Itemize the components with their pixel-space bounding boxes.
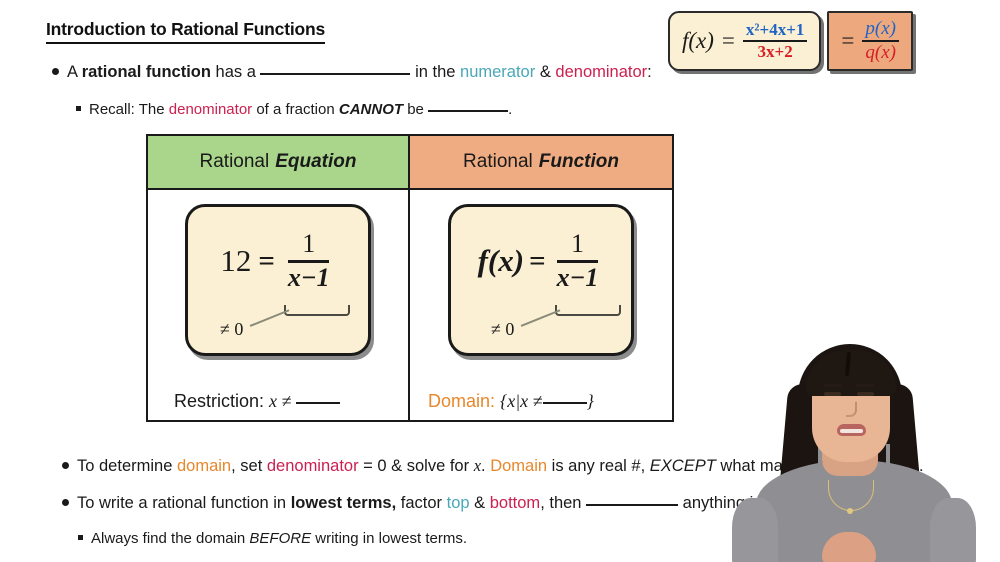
bullet-determine-domain: To determine domain, set denominator = 0… <box>62 456 924 477</box>
presenter-pendant <box>847 508 853 514</box>
table-body-row: 12 = 1 x−1 ≠ 0 Restriction: x ≠ <box>148 190 672 420</box>
restriction-caption: Restriction: x ≠ <box>174 391 340 412</box>
underbrace-icon <box>284 305 350 316</box>
underbrace-icon <box>555 305 621 316</box>
domain-caption: Domain: {x|x ≠} <box>428 391 594 412</box>
comparison-table: RationalEquation RationalFunction 12 = 1… <box>146 134 674 422</box>
fill-blank <box>296 402 340 404</box>
header-lead-text: Rational <box>463 151 533 173</box>
header-lead-text: Rational <box>200 151 270 173</box>
presenter-eyebrow-left <box>823 384 842 387</box>
header-emph-text: Equation <box>275 151 356 173</box>
equation-equals: = <box>529 245 546 278</box>
presenter-hand <box>822 532 876 562</box>
instructor-video-overlay <box>700 330 1000 562</box>
general-denominator: q(x) <box>862 42 899 63</box>
table-header-rational-equation: RationalEquation <box>148 136 410 190</box>
presenter-nose <box>846 402 857 417</box>
bullet-rational-function-definition: A rational function has a in the numerat… <box>52 62 652 83</box>
equation-card-left: 12 = 1 x−1 ≠ 0 <box>185 204 371 356</box>
formula-denominator: 3x+2 <box>755 42 796 61</box>
leader-line <box>521 309 561 326</box>
nonzero-annotation: ≠ 0 <box>491 319 514 340</box>
bullet-square-icon <box>76 106 81 111</box>
equation-card-right: f(x) = 1 x−1 ≠ 0 <box>448 204 634 356</box>
equation-fraction: 1 x−1 <box>282 231 336 291</box>
formula-lhs: f(x) <box>682 28 714 54</box>
formula-strip: f(x) = x²+4x+1 3x+2 = p(x) q(x) <box>668 11 913 71</box>
presenter-eyebrow-right <box>856 384 875 387</box>
fill-blank <box>543 402 587 404</box>
fill-blank <box>428 110 508 112</box>
presenter-eye-right <box>857 392 874 396</box>
bullet-square-icon <box>78 535 83 540</box>
formula-equals: = <box>722 28 735 54</box>
fill-blank <box>260 73 410 75</box>
caption-label: Restriction: <box>174 391 264 411</box>
bullet-dot-icon <box>62 462 69 469</box>
caption-math: x ≠ <box>269 391 291 411</box>
general-numerator: p(x) <box>862 19 899 42</box>
equation-equals: = <box>258 245 275 278</box>
presenter-face <box>812 358 890 462</box>
header-emph-text: Function <box>539 151 619 173</box>
bullet-dot-icon <box>52 68 59 75</box>
slide-canvas: Introduction to Rational Functions f(x) … <box>0 0 1000 562</box>
page-title: Introduction to Rational Functions <box>46 19 325 44</box>
bullet-recall-denominator: Recall: The denominator of a fraction CA… <box>76 101 512 120</box>
bullet-lowest-terms: To write a rational function in lowest t… <box>62 493 835 514</box>
leader-line <box>250 309 290 326</box>
presenter-hair-top <box>806 350 896 396</box>
example-formula-box: f(x) = x²+4x+1 3x+2 <box>668 11 821 71</box>
table-header-row: RationalEquation RationalFunction <box>148 136 672 190</box>
caption-math: {x|x ≠ <box>500 391 543 411</box>
presenter-mouth <box>837 424 866 436</box>
equation-lhs: f(x) <box>478 243 524 279</box>
equation-denominator: x−1 <box>282 263 336 292</box>
equation-numerator: 1 <box>288 231 329 263</box>
formula-fraction: x²+4x+1 3x+2 <box>743 21 807 61</box>
general-equals: = <box>841 28 854 54</box>
fill-blank <box>586 504 678 506</box>
formula-numerator: x²+4x+1 <box>743 21 807 42</box>
nonzero-annotation: ≠ 0 <box>220 319 243 340</box>
general-fraction: p(x) q(x) <box>862 19 899 63</box>
bullet-find-domain-before: Always find the domain BEFORE writing in… <box>78 530 467 549</box>
equation-lhs: 12 <box>220 243 251 279</box>
table-cell-rational-equation: 12 = 1 x−1 ≠ 0 Restriction: x ≠ <box>148 190 410 420</box>
equation-denominator: x−1 <box>551 263 605 292</box>
equation-numerator: 1 <box>557 231 598 263</box>
presenter-eye-left <box>824 392 841 396</box>
table-cell-rational-function: f(x) = 1 x−1 ≠ 0 Domain: {x|x ≠} <box>410 190 672 420</box>
bullet-dot-icon <box>62 499 69 506</box>
equation-fraction: 1 x−1 <box>551 231 605 291</box>
table-header-rational-function: RationalFunction <box>410 136 672 190</box>
presenter-hair-part <box>845 352 851 376</box>
caption-math-close: } <box>587 391 594 411</box>
caption-label: Domain: <box>428 391 495 411</box>
general-form-box: = p(x) q(x) <box>827 11 913 71</box>
